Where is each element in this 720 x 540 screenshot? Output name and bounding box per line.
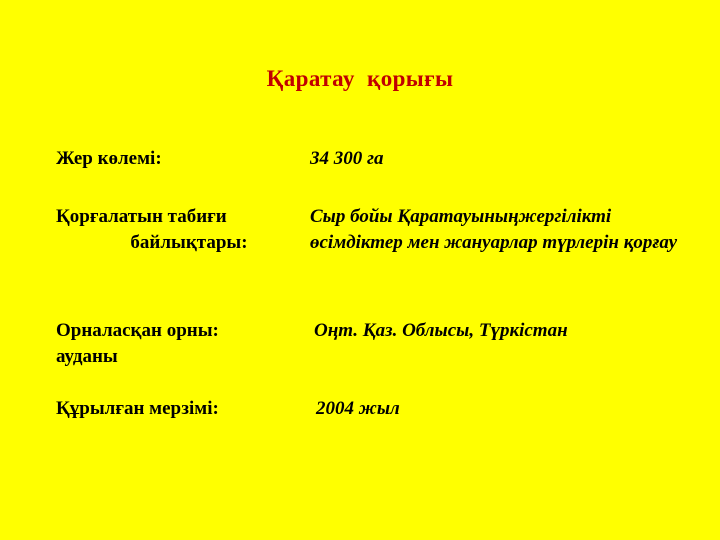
info-list: Жер көлемі: 34 300 га Қорғалатын табиғи … xyxy=(56,146,696,436)
label-area-line1: Жер көлемі: xyxy=(56,146,304,172)
info-row-location: Орналасқан орны: ауданы Оңт. Қаз. Облысы… xyxy=(56,318,696,396)
slide-canvas: Қаратау қорығы Жер көлемі: 34 300 га Қор… xyxy=(0,0,720,540)
page-title: Қаратау қорығы xyxy=(0,66,720,92)
info-row-founded: Құрылған мерзімі: 2004 жыл xyxy=(56,396,696,436)
label-protected-resources-line2: байлықтары: xyxy=(56,230,304,256)
value-protected-resources: Сыр бойы Қаратауыныңжергілікті өсімдікте… xyxy=(310,204,702,256)
value-protected-resources-line1: Сыр бойы Қаратауыныңжергілікті xyxy=(310,206,611,227)
label-founded-line1: Құрылған мерзімі: xyxy=(56,396,304,422)
label-protected-resources-line1: Қорғалатын табиғи xyxy=(56,204,304,230)
label-location-line1: Орналасқан орны: xyxy=(56,318,304,344)
value-founded: 2004 жыл xyxy=(316,396,706,422)
value-founded-line1: 2004 жыл xyxy=(316,398,400,419)
info-row-protected-resources: Қорғалатын табиғи байлықтары: Сыр бойы Қ… xyxy=(56,204,696,318)
value-protected-resources-line2: өсімдіктер мен жануарлар түрлерін xyxy=(310,232,619,253)
label-founded: Құрылған мерзімі: xyxy=(56,396,304,422)
value-area-line1: 34 300 га xyxy=(310,148,384,169)
value-area: 34 300 га xyxy=(310,146,700,172)
value-protected-resources-line3: қорғау xyxy=(624,232,677,253)
label-protected-resources: Қорғалатын табиғи байлықтары: xyxy=(56,204,304,256)
label-area: Жер көлемі: xyxy=(56,146,304,172)
value-location-line1: Оңт. Қаз. Облысы, Түркістан xyxy=(314,320,568,341)
label-location-line2: ауданы xyxy=(56,344,304,370)
label-location: Орналасқан орны: ауданы xyxy=(56,318,304,370)
info-row-area: Жер көлемі: 34 300 га xyxy=(56,146,696,204)
value-location: Оңт. Қаз. Облысы, Түркістан xyxy=(314,318,694,344)
